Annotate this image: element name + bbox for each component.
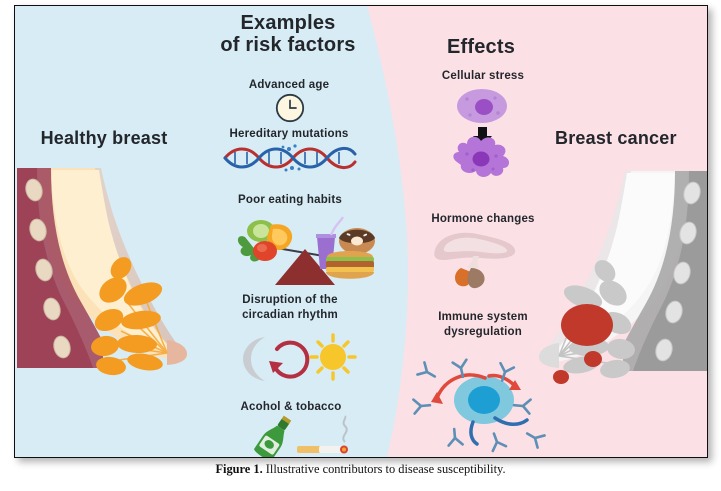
risk-item-label-advanced-age: Advanced age <box>213 79 365 92</box>
risk-item-label-circadian-line2: circadian rhythm <box>208 309 372 322</box>
risk-item-label-circadian-line1: Disruption of the <box>208 294 372 307</box>
pituitary-gland-icon <box>429 228 521 290</box>
figure-caption-label: Figure 1. <box>215 462 262 476</box>
risk-item-label-hereditary-mutations: Hereditary mutations <box>205 128 373 141</box>
food-balance-scale-icon <box>231 211 377 289</box>
effects-item-label-cellular-stress: Cellular stress <box>407 70 559 83</box>
healthy-breast-illustration <box>17 168 189 368</box>
figure-panel: Healthy breast <box>14 5 708 458</box>
stressed-cell-icon <box>443 86 521 178</box>
figure-caption-text: Illustrative contributors to disease sus… <box>263 462 506 476</box>
risk-column-title-line2: of risk factors <box>198 34 378 57</box>
dna-helix-icon <box>223 144 357 172</box>
risk-item-label-poor-eating-habits: Poor eating habits <box>210 194 370 207</box>
moon-sun-cycle-icon <box>235 333 357 383</box>
breast-cancer-title: Breast cancer <box>555 128 708 149</box>
risk-item-label-alcohol-tobacco: Acohol & tobacco <box>210 401 372 414</box>
figure-root: Healthy breast <box>0 0 721 491</box>
effects-column-title: Effects <box>411 36 551 59</box>
bottle-cigarette-icon <box>241 420 359 458</box>
risk-column-title-line1: Examples <box>198 12 378 35</box>
healthy-breast-title: Healthy breast <box>15 128 193 149</box>
figure-caption: Figure 1. Illustrative contributors to d… <box>0 462 721 477</box>
clock-icon <box>274 92 306 124</box>
breast-cancer-illustration <box>533 171 708 371</box>
